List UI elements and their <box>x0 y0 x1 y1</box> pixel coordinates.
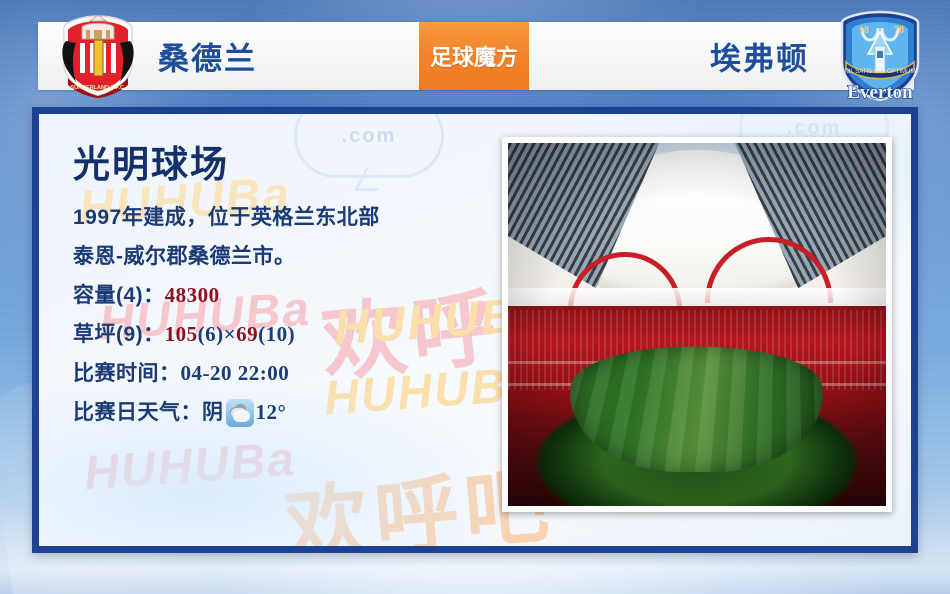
match-time-row: 比赛时间：04-20 22:00 <box>73 354 493 393</box>
stadium-pitch-row: 草坪(9)：105(6)×69(10) <box>73 315 493 354</box>
svg-text:Everton: Everton <box>847 82 913 103</box>
pitch-width-value: 69 <box>236 322 258 346</box>
cloudy-icon <box>226 399 254 427</box>
stadium-photo-frame <box>502 137 892 512</box>
everton-crest: 18 78 NIL SATIS NISI OPTIMUM Everton <box>832 6 928 106</box>
stadium-capacity-row: 容量(4)：48300 <box>73 276 493 315</box>
site-logo-text: 足球魔方 <box>430 40 518 72</box>
pitch-width-rank: (10) <box>258 322 295 346</box>
match-weather-row: 比赛日天气：阴12° <box>73 393 493 432</box>
pitch-label: 草坪(9)： <box>73 323 165 346</box>
pitch-length-rank: (6) <box>198 322 224 346</box>
stadium-description-line-1: 1997年建成，位于英格兰东北部 <box>73 198 493 237</box>
watermark-huhuba-3: HUHUBa <box>82 432 297 502</box>
stadium-title: 光明球场 <box>73 134 493 188</box>
site-logo-badge[interactable]: 足球魔方 <box>419 22 529 90</box>
stadium-photo <box>508 143 886 506</box>
svg-text:SUNDERLAND A.F.C.: SUNDERLAND A.F.C. <box>70 85 126 91</box>
pitch-multiply-sign: × <box>224 322 236 346</box>
capacity-value: 48300 <box>165 283 220 307</box>
stadium-info-column: 光明球场 1997年建成，位于英格兰东北部 泰恩-威尔郡桑德兰市。 容量(4)：… <box>73 134 493 432</box>
pitch-length-value: 105 <box>165 322 198 346</box>
match-time-label: 比赛时间： <box>73 362 181 385</box>
match-header-bar: SUNDERLAND A.F.C. 桑德兰 足球魔方 埃弗顿 18 78 NIL… <box>38 22 914 90</box>
match-time-value: 04-20 22:00 <box>181 361 290 385</box>
photo-vignette <box>508 143 886 506</box>
home-team-name: 桑德兰 <box>158 34 257 79</box>
away-team-name: 埃弗顿 <box>710 34 809 79</box>
stadium-description-line-2: 泰恩-威尔郡桑德兰市。 <box>73 237 493 276</box>
svg-text:18: 18 <box>859 25 869 36</box>
weather-condition: 阴 <box>202 393 224 432</box>
svg-text:78: 78 <box>894 25 904 36</box>
capacity-label: 容量(4)： <box>73 284 165 307</box>
svg-text:NIL SATIS NISI OPTIMUM: NIL SATIS NISI OPTIMUM <box>844 69 915 75</box>
sunderland-crest: SUNDERLAND A.F.C. <box>56 13 140 99</box>
stadium-info-panel: .com .com 欢呼吧 欢呼吧 HUHUBa HUHUBa HUHUBa H… <box>32 107 918 553</box>
weather-label: 比赛日天气： <box>73 393 202 432</box>
weather-temperature: 12° <box>256 393 287 432</box>
